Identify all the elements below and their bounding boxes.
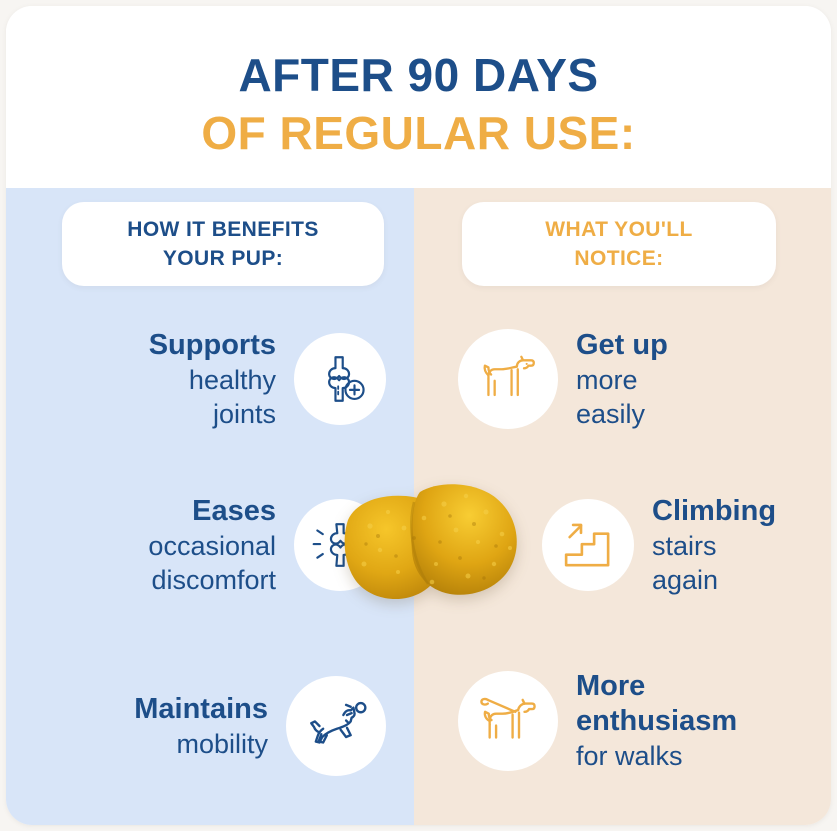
benefit-line-2: occasional (148, 531, 276, 561)
left-column-heading: HOW IT BENEFITS YOUR PUP: (62, 202, 384, 286)
page-title-line1: AFTER 90 DAYS (6, 50, 831, 100)
benefit-line-2: healthy (189, 365, 276, 395)
stairs-arrow-icon-circle (542, 499, 634, 591)
page-title-colon: : (620, 107, 636, 159)
standing-dog-icon (476, 350, 540, 408)
left-column-heading-line1: HOW IT BENEFITS (127, 218, 319, 241)
benefit-line-3: again (652, 565, 718, 595)
standing-dog-icon-circle (458, 329, 558, 429)
benefit-bold-line: Climbing (652, 494, 776, 529)
leashed-dog-icon-circle (458, 671, 558, 771)
right-column-heading-line2: NOTICE: (574, 247, 663, 270)
leaping-dog-icon-circle (286, 676, 386, 776)
benefit-line-3: easily (576, 399, 645, 429)
benefit-row-more-enthusiasm: More enthusiasm for walks (458, 656, 818, 786)
benefit-bold-line: Maintains (134, 692, 268, 727)
benefit-bold-line: Eases (148, 494, 276, 529)
benefit-line-2: mobility (176, 729, 268, 759)
benefit-row-eases-discomfort: Eases occasional discomfort (16, 490, 386, 600)
benefit-bold-line: Supports (149, 328, 276, 363)
left-column-heading-line2: YOUR PUP: (163, 247, 283, 270)
benefit-bold-line: More (576, 669, 737, 704)
benefit-text-maintains-mobility: Maintains mobility (134, 692, 268, 761)
benefit-text-supports-joints: Supports healthy joints (149, 328, 276, 431)
leashed-dog-icon (475, 691, 541, 751)
right-column-heading-line1: WHAT YOU'LL (545, 218, 692, 241)
benefit-line-3: for walks (576, 741, 683, 771)
benefit-line-2: more (576, 365, 638, 395)
benefit-line-3: joints (213, 399, 276, 429)
benefit-line-3: discomfort (151, 565, 276, 595)
benefit-bold-line: Get up (576, 328, 668, 363)
benefit-row-climbing-stairs: Climbing stairs again (542, 490, 831, 600)
stairs-arrow-icon (560, 517, 616, 573)
joint-health-icon (311, 350, 369, 408)
infographic-card: AFTER 90 DAYS OF REGULAR USE: HOW IT BEN… (6, 6, 831, 825)
benefit-text-get-up-easily: Get up more easily (576, 328, 668, 431)
right-column-heading: WHAT YOU'LL NOTICE: (462, 202, 776, 286)
benefit-line-2: stairs (652, 531, 717, 561)
benefit-row-supports-joints: Supports healthy joints (46, 324, 386, 434)
page-title-line2: OF REGULAR USE: (6, 108, 831, 158)
benefit-text-more-enthusiasm: More enthusiasm for walks (576, 669, 737, 773)
header: AFTER 90 DAYS OF REGULAR USE: (6, 6, 831, 188)
benefit-row-maintains-mobility: Maintains mobility (46, 668, 386, 784)
chew-treats-image (336, 468, 536, 620)
joint-health-icon-circle (294, 333, 386, 425)
benefit-row-get-up-easily: Get up more easily (458, 324, 808, 434)
page-title-line2-text: OF REGULAR USE (201, 107, 619, 159)
benefit-bold-line-2: enthusiasm (576, 704, 737, 739)
benefit-text-climbing-stairs: Climbing stairs again (652, 494, 776, 597)
leaping-dog-icon (303, 696, 369, 756)
benefit-text-eases-discomfort: Eases occasional discomfort (148, 494, 276, 597)
